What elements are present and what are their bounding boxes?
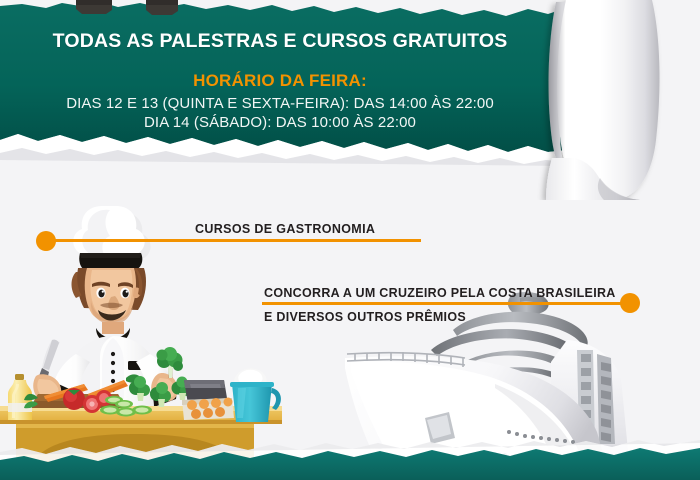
chef-head <box>72 268 147 324</box>
caption-gastronomy: CURSOS DE GASTRONOMIA <box>36 222 421 256</box>
poster-canvas: TODAS AS PALESTRAS E CURSOS GRATUITOS HO… <box>0 0 700 480</box>
caption-cruise-rule <box>262 302 628 305</box>
caption-gastronomy-dot <box>36 231 56 251</box>
bottom-torn-strip <box>0 438 700 480</box>
caption-gastronomy-rule <box>54 239 421 242</box>
egg-carton <box>182 398 234 421</box>
caption-cruise: CONCORRA A UM CRUZEIRO PELA COSTA BRASIL… <box>262 286 640 332</box>
caption-cruise-dot <box>620 293 640 313</box>
caption-gastronomy-label: CURSOS DE GASTRONOMIA <box>190 222 380 236</box>
paper-curl <box>546 0 659 200</box>
green-banner: TODAS AS PALESTRAS E CURSOS GRATUITOS HO… <box>0 0 700 185</box>
banner-torn-paper-shape <box>0 0 700 200</box>
caption-cruise-line-1: CONCORRA A UM CRUZEIRO PELA COSTA BRASIL… <box>264 286 616 300</box>
caption-cruise-line-2: E DIVERSOS OUTROS PRÊMIOS <box>264 310 466 324</box>
tomato <box>63 388 85 410</box>
